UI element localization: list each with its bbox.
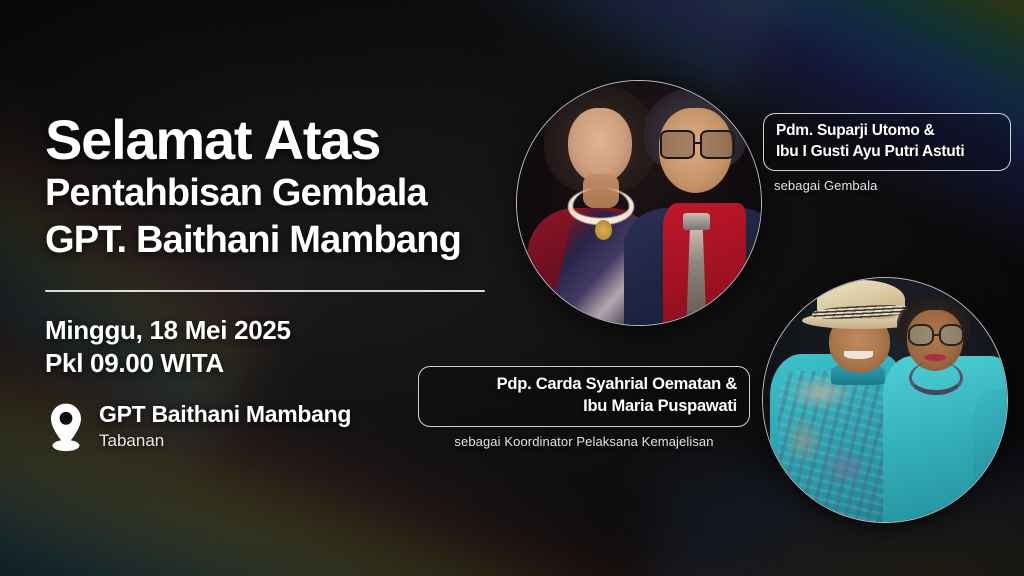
name-label-coordinator-couple: Pdp. Carda Syahrial Oematan & Ibu Maria … [418, 366, 750, 449]
photo2-glasses-right [939, 324, 965, 346]
map-pin-icon [45, 402, 87, 452]
name-line-2: Ibu Maria Puspawati [431, 396, 737, 418]
photo1-woman-face [568, 108, 631, 184]
name-pill: Pdm. Suparji Utomo & Ibu I Gusti Ayu Put… [763, 113, 1011, 171]
photo1-glasses-right [700, 130, 735, 159]
divider-rule [45, 290, 485, 292]
photo2-man-smile [844, 351, 873, 358]
name-line-2: Ibu I Gusti Ayu Putri Astuti [776, 142, 998, 163]
role-label: sebagai Koordinator Pelaksana Kemajelisa… [418, 434, 750, 449]
venue-city: Tabanan [99, 430, 351, 452]
name-label-pastor-couple: Pdm. Suparji Utomo & Ibu I Gusti Ayu Put… [763, 113, 1011, 193]
photo-coordinator-couple [762, 277, 1008, 523]
photo1-man-tie-knot [683, 213, 710, 230]
poster-canvas: Selamat Atas Pentahbisan Gembala GPT. Ba… [0, 0, 1024, 576]
name-line-1: Pdm. Suparji Utomo & [776, 121, 998, 142]
role-label: sebagai Gembala [763, 178, 1011, 193]
venue-text: GPT Baithani Mambang Tabanan [99, 402, 351, 452]
venue-name: GPT Baithani Mambang [99, 402, 351, 428]
event-date: Minggu, 18 Mei 2025 [45, 314, 515, 347]
photo2-woman-lips [924, 354, 946, 361]
photo2-woman-sleeve [973, 390, 1008, 523]
photo1-glasses-left [660, 130, 695, 159]
photo-content [763, 278, 1007, 522]
photo2-woman-necklace [909, 361, 963, 395]
photo2-batik-pattern [778, 371, 885, 523]
photo2-glasses-bridge [934, 334, 939, 336]
headline-line-3: GPT. Baithani Mambang [45, 218, 515, 263]
headline-line-2: Pentahbisan Gembala [45, 171, 515, 216]
photo1-glasses-bridge [695, 142, 701, 144]
photo2-glasses-left [908, 324, 934, 346]
photo-content [517, 81, 761, 325]
name-line-1: Pdp. Carda Syahrial Oematan & [431, 374, 737, 396]
headline-line-1: Selamat Atas [45, 112, 515, 168]
photo-pastor-couple [516, 80, 762, 326]
photo1-pendant [595, 220, 612, 240]
name-pill: Pdp. Carda Syahrial Oematan & Ibu Maria … [418, 366, 750, 427]
